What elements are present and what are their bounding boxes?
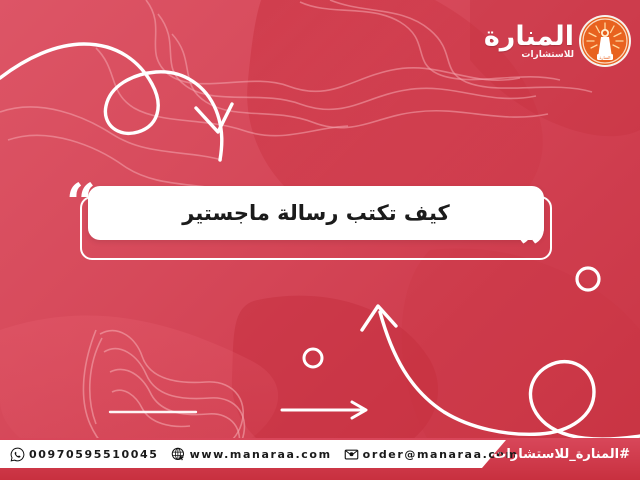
page-title: كيف تكتب رسالة ماجستير xyxy=(168,201,463,225)
website-url: www.manaraa.com xyxy=(190,448,332,461)
footer-contacts: 00970595510045 www.manaraa.com order@man… xyxy=(10,440,531,468)
hashtag-label: #المنارة_للاستشارات xyxy=(493,441,630,467)
brand-logo: المنارة للاستشارات المنارة xyxy=(484,14,632,68)
lighthouse-badge-icon: المنارة xyxy=(578,14,632,68)
contact-whatsapp[interactable]: 00970595510045 xyxy=(10,447,159,462)
poster-canvas: المنارة للاستشارات المنارة xyxy=(0,0,640,480)
badge-caption: المنارة xyxy=(599,55,610,60)
title-card: كيف تكتب رسالة ماجستير xyxy=(88,186,544,240)
looping-arrow-down-right-icon xyxy=(0,44,232,160)
quote-open-icon: “ xyxy=(66,178,96,230)
contact-website[interactable]: www.manaraa.com xyxy=(171,447,332,462)
logo-wordmark: المنارة للاستشارات xyxy=(484,23,574,60)
whatsapp-number: 00970595510045 xyxy=(29,448,159,461)
logo-tagline: للاستشارات xyxy=(521,51,574,60)
footer-bar: 00970595510045 www.manaraa.com order@man… xyxy=(0,438,640,480)
email-icon xyxy=(344,447,359,462)
quote-close-icon: ” xyxy=(518,224,548,276)
globe-icon xyxy=(171,447,186,462)
title-block: كيف تكتب رسالة ماجستير “ ” xyxy=(66,186,538,250)
whatsapp-icon xyxy=(10,447,25,462)
logo-name: المنارة xyxy=(484,23,574,50)
